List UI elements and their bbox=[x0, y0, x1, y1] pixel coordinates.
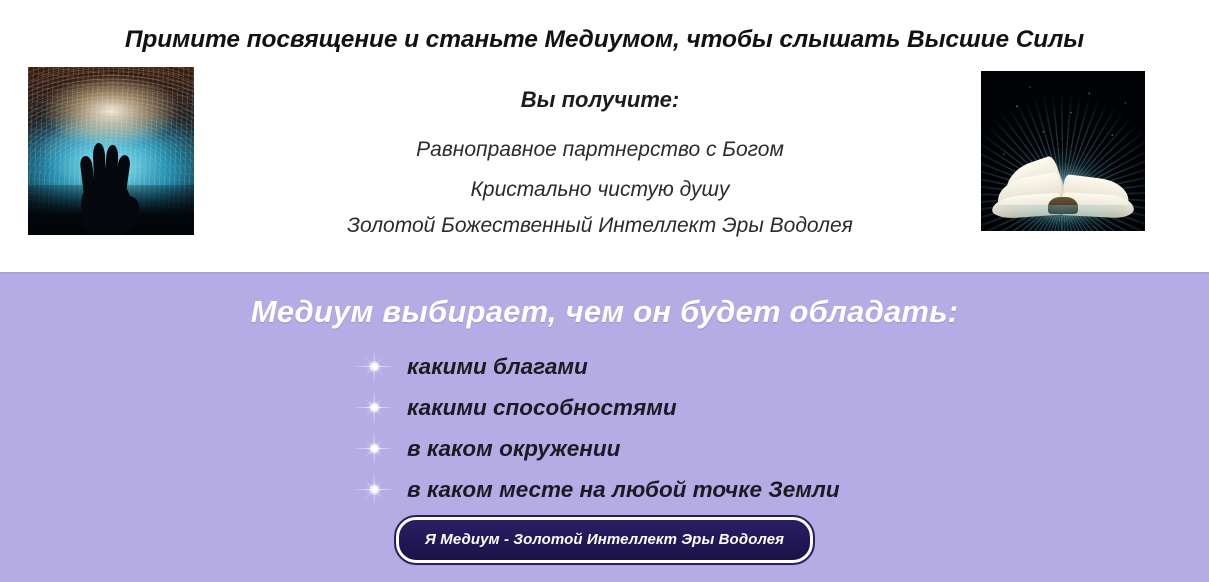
sparkle-icon bbox=[353, 346, 395, 388]
promise-line-1: Равноправное партнерство с Богом bbox=[200, 138, 1000, 162]
list-item: какими способностями bbox=[345, 387, 840, 428]
hand-silhouette-icon bbox=[70, 138, 143, 232]
list-item: в каком окружении bbox=[345, 428, 840, 469]
list-item: какими благами bbox=[345, 346, 840, 387]
table-reflection bbox=[981, 205, 1145, 231]
page-headline: Примите посвящение и станьте Медиумом, ч… bbox=[0, 26, 1209, 54]
promise-line-2: Кристально чистую душу bbox=[200, 178, 1000, 202]
list-item: в каком месте на любой точке Земли bbox=[345, 469, 840, 510]
promise-line-3: Золотой Божественный Интеллект Эры Водол… bbox=[200, 214, 1000, 238]
promise-title: Вы получите: bbox=[200, 87, 1000, 113]
promo-page: Примите посвящение и станьте Медиумом, ч… bbox=[0, 0, 1209, 582]
list-item-label: какими благами bbox=[407, 354, 588, 380]
benefits-list: какими благами какими способностями bbox=[345, 346, 840, 510]
list-item-label: в каком окружении bbox=[407, 436, 620, 462]
hand-energy-image bbox=[28, 67, 194, 235]
list-item-label: в каком месте на любой точке Земли bbox=[407, 477, 840, 503]
list-item-label: какими способностями bbox=[407, 395, 677, 421]
sparkle-icon bbox=[353, 387, 395, 429]
sparkle-icon bbox=[353, 469, 395, 511]
glowing-book-image bbox=[981, 71, 1145, 231]
cta-button[interactable]: Я Медиум - Золотой Интеллект Эры Водолея bbox=[396, 517, 813, 563]
top-section: Примите посвящение и станьте Медиумом, ч… bbox=[0, 0, 1209, 272]
sparkle-icon bbox=[353, 428, 395, 470]
purple-section-heading: Медиум выбирает, чем он будет обладать: bbox=[0, 294, 1209, 330]
wrist bbox=[87, 217, 124, 235]
purple-section: Медиум выбирает, чем он будет обладать: … bbox=[0, 272, 1209, 582]
cta-container: Я Медиум - Золотой Интеллект Эры Водолея bbox=[0, 517, 1209, 563]
